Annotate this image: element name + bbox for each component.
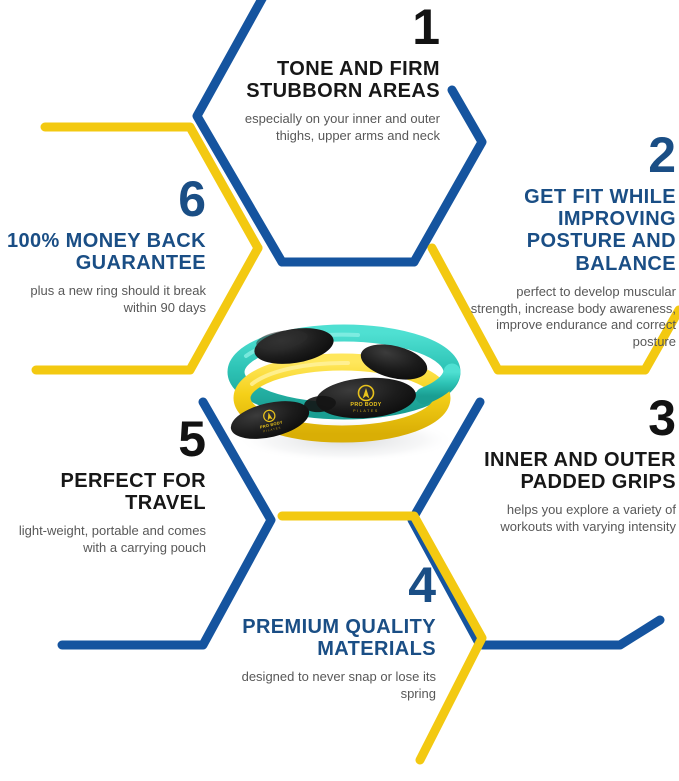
feature-3-description: helps you explore a variety of workouts …	[470, 502, 676, 535]
feature-1-description: especially on your inner and outer thigh…	[232, 111, 440, 144]
feature-1-title: TONE AND FIRM STUBBORN AREAS	[232, 58, 440, 103]
infographic-page: 1 TONE AND FIRM STUBBORN AREAS especiall…	[0, 0, 679, 781]
feature-block-5: 5 PERFECT FOR TRAVEL light-weight, porta…	[0, 416, 206, 557]
feature-block-6: 6 100% MONEY BACK GUARANTEE plus a new r…	[0, 176, 206, 317]
feature-block-4: 4 PREMIUM QUALITY MATERIALS designed to …	[236, 562, 436, 703]
feature-6-number: 6	[0, 176, 206, 224]
feature-block-2: 2 GET FIT WHILE IMPROVING POSTURE AND BA…	[470, 132, 676, 351]
feature-4-title: PREMIUM QUALITY MATERIALS	[236, 616, 436, 661]
svg-text:PILATES: PILATES	[353, 409, 379, 413]
feature-6-title: 100% MONEY BACK GUARANTEE	[0, 230, 206, 275]
feature-5-description: light-weight, portable and comes with a …	[0, 523, 206, 556]
feature-2-title: GET FIT WHILE IMPROVING POSTURE AND BALA…	[470, 186, 676, 276]
svg-text:PRO BODY: PRO BODY	[350, 402, 381, 408]
feature-1-number: 1	[232, 4, 440, 52]
feature-2-number: 2	[470, 132, 676, 180]
feature-3-number: 3	[470, 395, 676, 443]
pilates-rings-illustration: PRO BODY PILATES PRO BODY PILATES	[208, 300, 480, 475]
feature-block-1: 1 TONE AND FIRM STUBBORN AREAS especiall…	[232, 4, 440, 145]
feature-6-description: plus a new ring should it break within 9…	[0, 283, 206, 316]
feature-4-number: 4	[236, 562, 436, 610]
product-photo-pilates-rings: PRO BODY PILATES PRO BODY PILATES	[208, 300, 480, 475]
feature-3-title: INNER AND OUTER PADDED GRIPS	[470, 449, 676, 494]
feature-5-number: 5	[0, 416, 206, 464]
feature-4-description: designed to never snap or lose its sprin…	[236, 669, 436, 702]
feature-5-title: PERFECT FOR TRAVEL	[0, 470, 206, 515]
feature-block-3: 3 INNER AND OUTER PADDED GRIPS helps you…	[470, 395, 676, 536]
feature-2-description: perfect to develop muscular strength, in…	[470, 284, 676, 351]
